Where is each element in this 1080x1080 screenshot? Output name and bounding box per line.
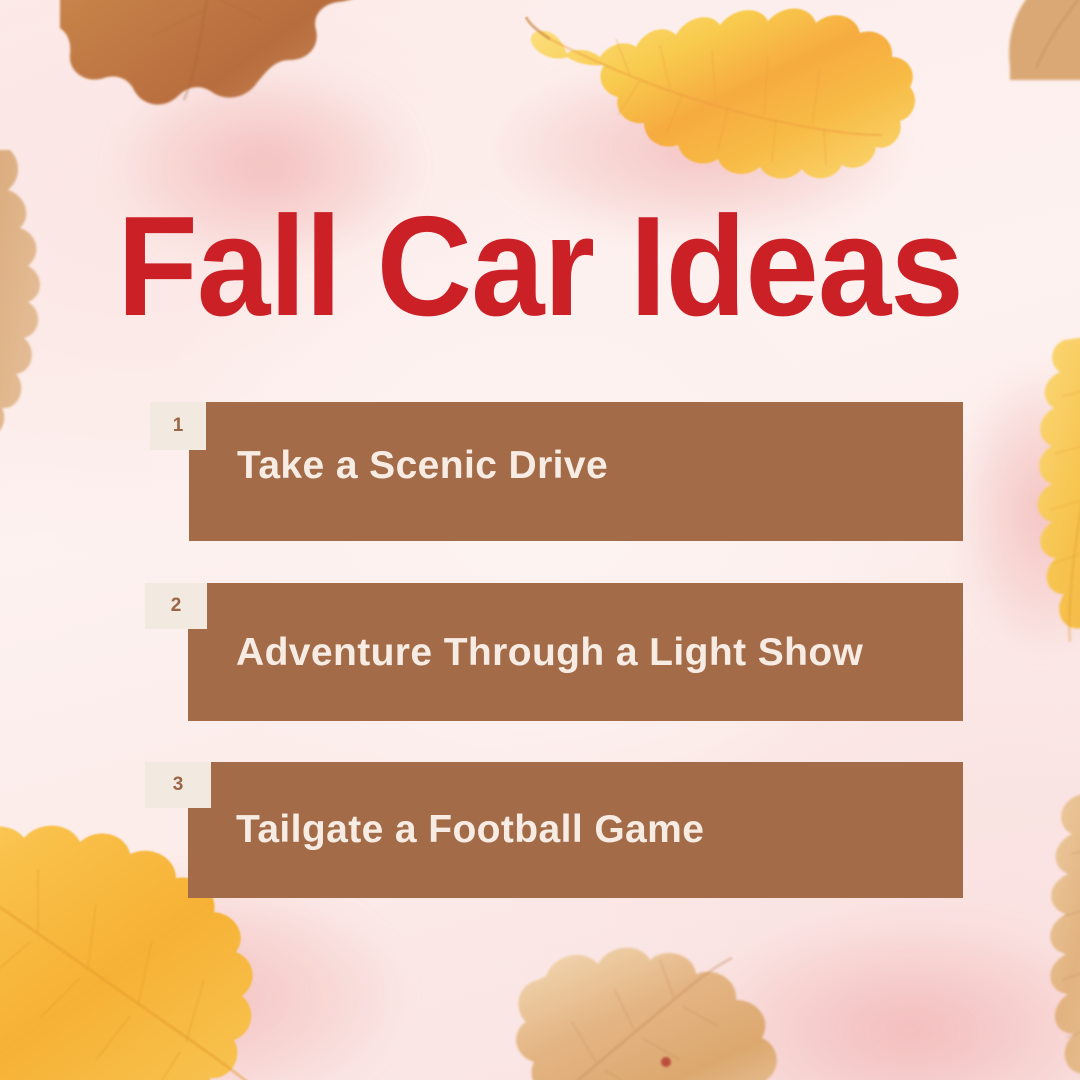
list-item-label: Take a Scenic Drive (189, 444, 608, 488)
list-item-bar[interactable]: Take a Scenic Drive (189, 402, 963, 541)
list-item-number-badge: 3 (145, 762, 211, 808)
poster-canvas: Fall Car Ideas 1 Take a Scenic Drive 2 A… (0, 0, 1080, 1080)
list-item-number-badge: 1 (150, 402, 206, 450)
list-item-label: Tailgate a Football Game (188, 808, 704, 852)
list-item-number-badge: 2 (145, 583, 207, 629)
ideas-list: 1 Take a Scenic Drive 2 Adventure Throug… (0, 0, 1080, 1080)
list-item-bar[interactable]: Adventure Through a Light Show (188, 583, 963, 721)
list-item-bar[interactable]: Tailgate a Football Game (188, 762, 963, 898)
list-item-label: Adventure Through a Light Show (188, 631, 863, 675)
